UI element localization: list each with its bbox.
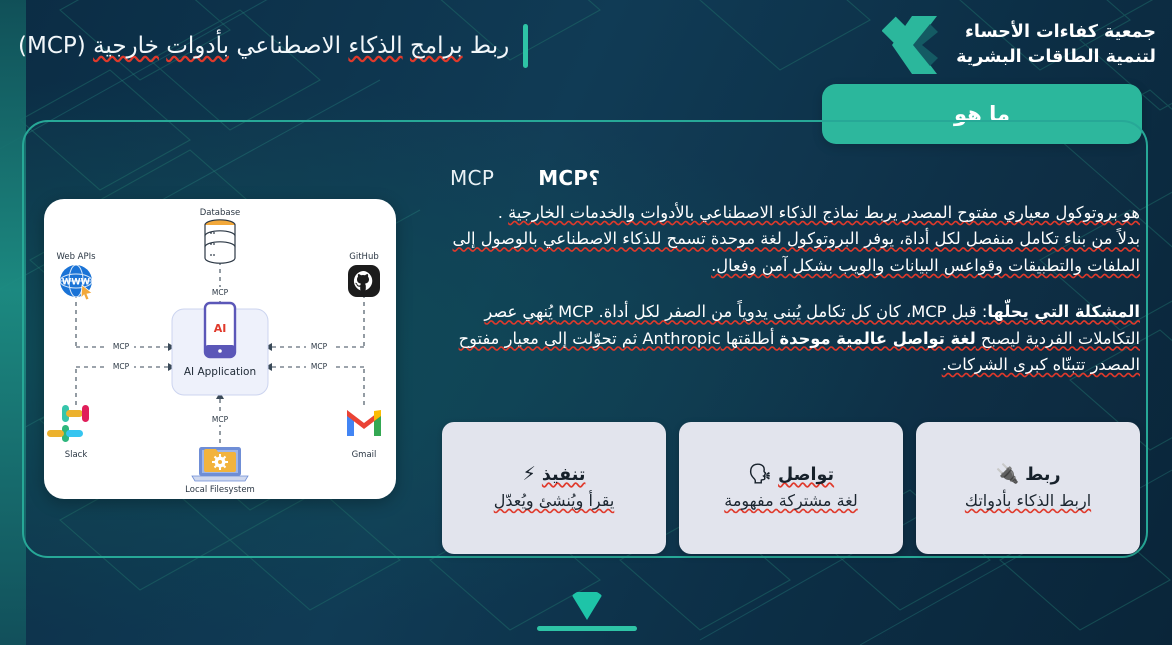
brand-name: جمعية كفاءات الأحساء لتنمية الطاقات البش… bbox=[956, 20, 1156, 70]
definition-paragraph: هو بروتوكول معياري مفتوح المصدر يربط نما… bbox=[450, 200, 1140, 279]
card-title-communicate: تواصل bbox=[778, 465, 834, 485]
card-subtitle-communicate: لغة مشتركة مفهومة bbox=[724, 490, 858, 512]
svg-text:MCP: MCP bbox=[212, 415, 229, 424]
svg-text:Database: Database bbox=[200, 208, 241, 218]
svg-text:MCP: MCP bbox=[311, 362, 328, 371]
brand-block: جمعية كفاءات الأحساء لتنمية الطاقات البش… bbox=[882, 14, 1156, 76]
svg-text:WWW: WWW bbox=[62, 278, 91, 288]
feature-card-communicate[interactable]: تواصل 🗣 لغة مشتركة مفهومة bbox=[679, 422, 903, 554]
brand-line-1: جمعية كفاءات الأحساء bbox=[956, 20, 1156, 45]
svg-text:MCP: MCP bbox=[113, 342, 130, 351]
card-subtitle-connect: اربط الذكاء بأدواتك bbox=[965, 490, 1091, 512]
feature-card-execute[interactable]: تنفيذ ⚡ يقرأ ويُنشئ ويُعدّل bbox=[442, 422, 666, 554]
definition-text-column: MCP؟ MCP هو بروتوكول معياري مفتوح المصدر… bbox=[450, 166, 1140, 378]
svg-text:Slack: Slack bbox=[65, 450, 88, 460]
svg-text:MCP: MCP bbox=[311, 342, 328, 351]
feature-cards: ربط 🔌 اربط الذكاء بأدواتك تواصل 🗣 لغة مش… bbox=[442, 422, 1140, 554]
acronym-light: MCP bbox=[450, 166, 494, 190]
acronym-row: MCP؟ MCP bbox=[450, 166, 1140, 190]
acronym-bold: MCP؟ bbox=[538, 166, 600, 190]
feature-card-header: ربط 🔌 bbox=[995, 465, 1060, 485]
bottom-bar-ornament bbox=[537, 626, 637, 631]
problem-paragraph: المشكلة التي يحلّها: قبل MCP، كان كل تكا… bbox=[450, 299, 1140, 378]
title-accent-tick bbox=[523, 24, 528, 68]
svg-text:AI Application: AI Application bbox=[184, 366, 256, 378]
speaking-head-icon: 🗣 bbox=[748, 465, 772, 484]
mcp-architecture-diagram: MCP MCP MCP MCP MCP MCP AI AI Ap bbox=[44, 199, 396, 499]
card-title-connect: ربط bbox=[1025, 465, 1060, 485]
card-subtitle-execute: يقرأ ويُنشئ ويُعدّل bbox=[494, 490, 615, 512]
svg-text:Local Filesystem: Local Filesystem bbox=[185, 485, 255, 495]
page-title: ربط برامج الذكاء الاصطناعي بأدوات خارجية… bbox=[18, 33, 509, 59]
svg-text:Gmail: Gmail bbox=[352, 450, 377, 460]
svg-text:MCP: MCP bbox=[113, 362, 130, 371]
feature-card-header: تواصل 🗣 bbox=[748, 465, 834, 485]
brand-line-2: لتنمية الطاقات البشرية bbox=[956, 45, 1156, 70]
feature-card-header: تنفيذ ⚡ bbox=[523, 465, 586, 485]
slide-header: ربط برامج الذكاء الاصطناعي بأدوات خارجية… bbox=[18, 24, 528, 68]
svg-text:MCP: MCP bbox=[212, 288, 229, 297]
lightning-bolt-icon: ⚡ bbox=[523, 465, 536, 484]
card-title-execute: تنفيذ bbox=[542, 465, 586, 485]
feature-card-connect[interactable]: ربط 🔌 اربط الذكاء بأدواتك bbox=[916, 422, 1140, 554]
k-logo-icon bbox=[882, 14, 940, 76]
bottom-triangle-ornament bbox=[572, 592, 602, 620]
svg-text:Web APIs: Web APIs bbox=[56, 252, 96, 262]
plug-icon: 🔌 bbox=[995, 465, 1019, 484]
svg-text:GitHub: GitHub bbox=[349, 252, 378, 262]
slide-canvas: ربط برامج الذكاء الاصطناعي بأدوات خارجية… bbox=[0, 0, 1172, 645]
svg-text:AI: AI bbox=[214, 322, 227, 335]
